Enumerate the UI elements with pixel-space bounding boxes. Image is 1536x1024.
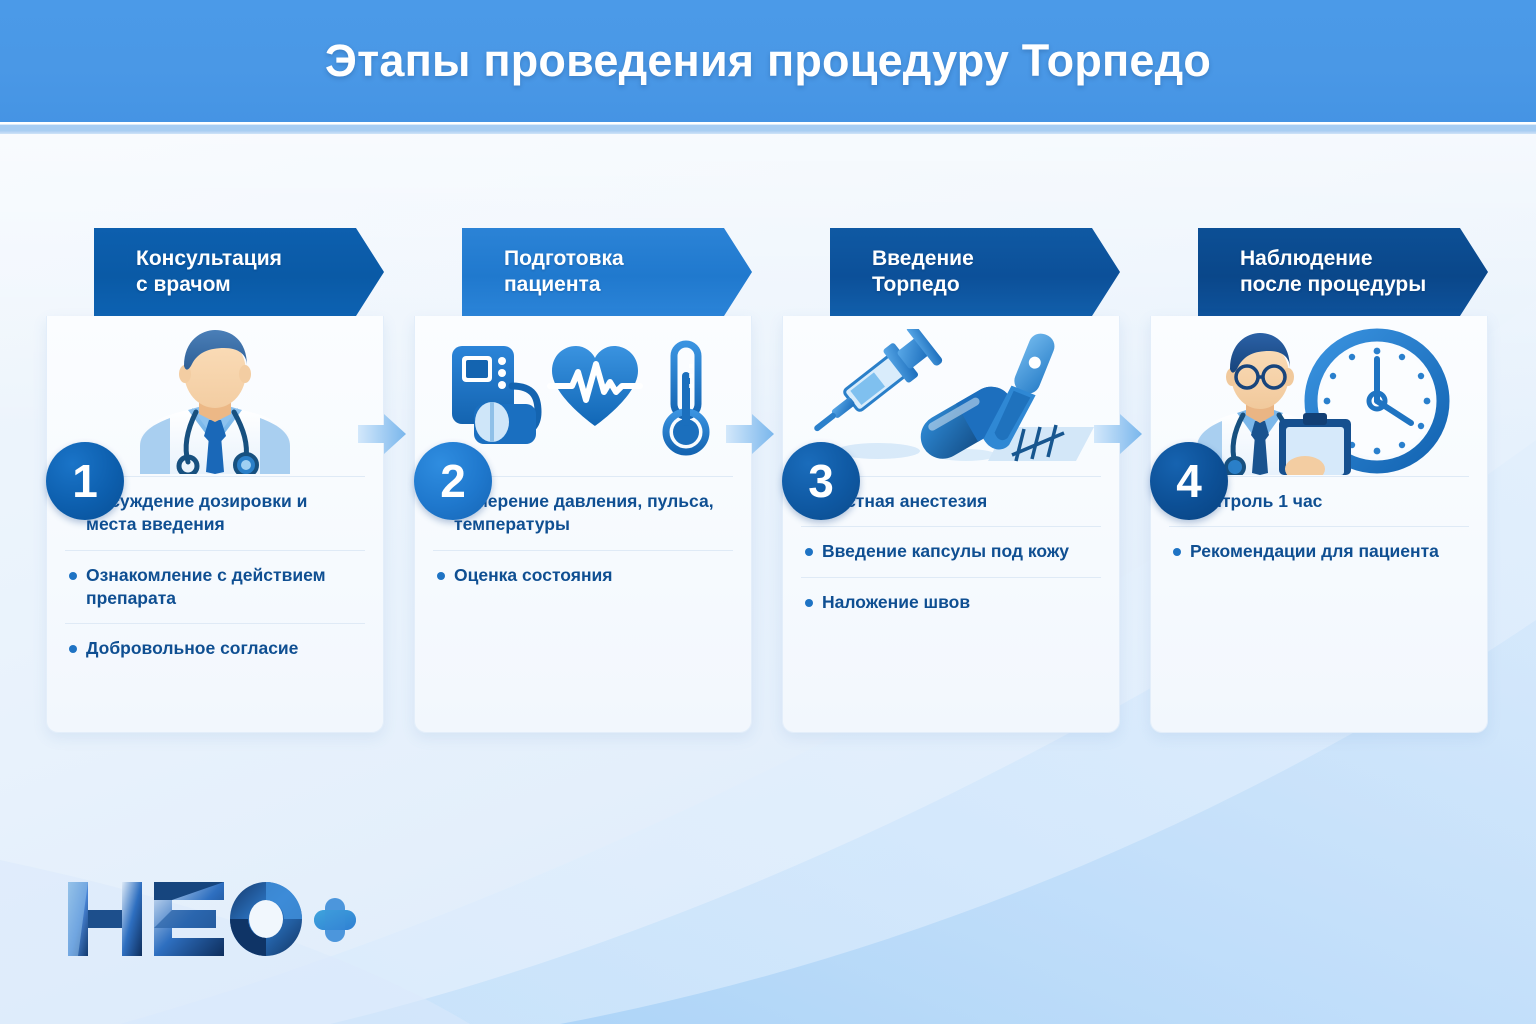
steps-row: Консультация с врачом 1	[46, 228, 1490, 733]
step-1-card: Обсуждение дозировки и места введения Оз…	[46, 316, 384, 733]
bullet-item: Наложение швов	[801, 577, 1101, 627]
step-1[interactable]: Консультация с врачом 1	[46, 228, 384, 733]
step-4-banner: Наблюдение после процедуры	[1198, 228, 1488, 316]
bullet-label: Измерение давления, пульса, температуры	[454, 490, 729, 537]
step-3-card: Местная анестезия Введение капсулы под к…	[782, 316, 1120, 733]
bullet-dot-icon	[69, 645, 77, 653]
step-2[interactable]: Подготовка пациента 2	[414, 228, 752, 733]
surgery-icons	[806, 329, 1096, 469]
infographic-root: Этапы проведения процедуру Торпедо Консу…	[0, 0, 1536, 1024]
step-1-number-badge: 1	[46, 442, 124, 520]
step-4[interactable]: Наблюдение после процедуры 4	[1150, 228, 1488, 733]
step-2-number-badge: 2	[414, 442, 492, 520]
doctor-icon	[100, 324, 330, 474]
flow-arrow-2-to-3	[726, 413, 774, 455]
bullet-label: Наложение швов	[822, 591, 970, 614]
logo-letter-n	[68, 882, 142, 956]
step-3-number: 3	[808, 454, 834, 508]
blood-pressure-monitor-icon	[452, 346, 538, 444]
step-2-card: Измерение давления, пульса, температуры …	[414, 316, 752, 733]
step-4-card: Контроль 1 час Рекомендации для пациента	[1150, 316, 1488, 733]
bullet-item: Ознакомление с действием препарата	[65, 550, 365, 624]
bullet-item: Оценка состояния	[433, 550, 733, 600]
bullet-label: Ознакомление с действием препарата	[86, 564, 361, 611]
bullet-label: Обсуждение дозировки и места введения	[86, 490, 361, 537]
step-3-title: Введение Торпедо	[872, 246, 974, 298]
flow-arrow-1-to-2	[358, 413, 406, 455]
bullet-item: Введение капсулы под кожу	[801, 526, 1101, 576]
bullet-item: Добровольное согласие	[65, 623, 365, 673]
step-1-banner: Консультация с врачом	[94, 228, 384, 316]
step-3-banner: Введение Торпедо	[830, 228, 1120, 316]
header-accent-strip	[0, 122, 1536, 134]
brand-logo[interactable]	[66, 876, 356, 962]
bullet-dot-icon	[1173, 548, 1181, 556]
page-title: Этапы проведения процедуру Торпедо	[325, 35, 1211, 87]
doctor-clock-icon	[1179, 323, 1459, 475]
logo-plus-icon	[314, 898, 356, 942]
bullet-dot-icon	[805, 548, 813, 556]
logo-letter-o	[230, 882, 302, 956]
step-2-title: Подготовка пациента	[504, 246, 624, 298]
bullet-label: Оценка состояния	[454, 564, 613, 587]
step-4-number-badge: 4	[1150, 442, 1228, 520]
step-2-banner: Подготовка пациента	[462, 228, 752, 316]
step-3-number-badge: 3	[782, 442, 860, 520]
bullet-dot-icon	[69, 572, 77, 580]
bullet-dot-icon	[805, 599, 813, 607]
bullet-label: Добровольное согласие	[86, 637, 298, 660]
vitals-icons	[438, 334, 728, 464]
step-1-number: 1	[72, 454, 98, 508]
step-3[interactable]: Введение Торпедо 3	[782, 228, 1120, 733]
heart-pulse-icon	[550, 346, 640, 426]
logo-letter-e	[154, 882, 224, 956]
step-4-number: 4	[1176, 454, 1202, 508]
header-bar: Этапы проведения процедуру Торпедо	[0, 0, 1536, 122]
flow-arrow-3-to-4	[1094, 413, 1142, 455]
step-1-title: Консультация с врачом	[136, 246, 282, 298]
bullet-label: Введение капсулы под кожу	[822, 540, 1069, 563]
bullet-label: Рекомендации для пациента	[1190, 540, 1439, 563]
bullet-item: Рекомендации для пациента	[1169, 526, 1469, 576]
step-2-number: 2	[440, 454, 466, 508]
bullet-dot-icon	[437, 572, 445, 580]
thermometer-icon	[666, 344, 706, 452]
step-4-title: Наблюдение после процедуры	[1240, 246, 1426, 298]
